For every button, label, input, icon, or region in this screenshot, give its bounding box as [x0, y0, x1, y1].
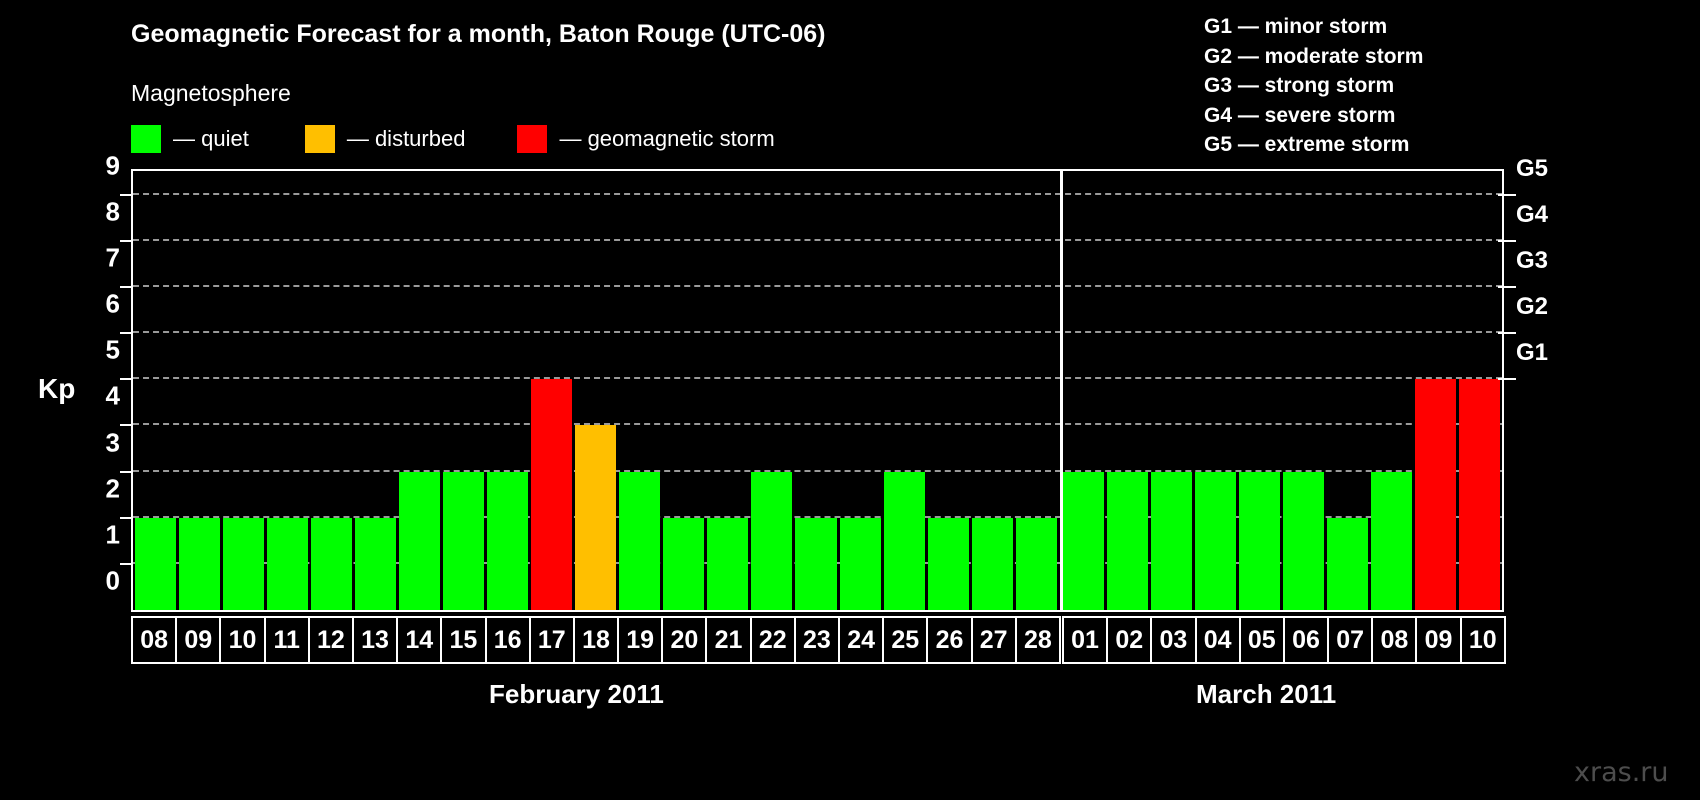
month-caption-march: March 2011	[1196, 679, 1336, 710]
date-label-february-28[interactable]: 28	[1015, 616, 1061, 664]
legend-swatch-disturbed-icon	[305, 125, 335, 153]
bar-march-07[interactable]	[1327, 518, 1368, 610]
legend-item-disturbed: — disturbed	[305, 125, 466, 153]
date-label-february-12[interactable]: 12	[308, 616, 354, 664]
date-label-february-14[interactable]: 14	[396, 616, 442, 664]
date-label-march-03[interactable]: 03	[1150, 616, 1196, 664]
date-label-march-10[interactable]: 10	[1460, 616, 1506, 664]
bar-march-06[interactable]	[1283, 472, 1324, 610]
bar-cell	[838, 171, 882, 610]
y-tick-label-0: 0	[70, 566, 120, 597]
legend-swatch-storm-icon	[517, 125, 547, 153]
y-tick-mark-8	[120, 240, 131, 242]
bar-march-04[interactable]	[1195, 472, 1236, 610]
y-tick-label-4: 4	[70, 381, 120, 412]
y-tick-label-7: 7	[70, 242, 120, 273]
month-separator	[1060, 169, 1063, 612]
date-label-march-05[interactable]: 05	[1239, 616, 1285, 664]
storm-scale-legend: G1 — minor storm G2 — moderate storm G3 …	[1204, 12, 1423, 160]
date-label-february-09[interactable]: 09	[175, 616, 221, 664]
date-label-february-23[interactable]: 23	[794, 616, 840, 664]
bar-february-13[interactable]	[355, 518, 396, 610]
y-tick-label-8: 8	[70, 196, 120, 227]
bar-march-08[interactable]	[1371, 472, 1412, 610]
bar-february-22[interactable]	[751, 472, 792, 610]
bar-cell	[794, 171, 838, 610]
date-label-march-02[interactable]: 02	[1106, 616, 1152, 664]
bar-cell	[574, 171, 618, 610]
bar-february-25[interactable]	[884, 472, 925, 610]
bar-february-24[interactable]	[840, 518, 881, 610]
bar-march-05[interactable]	[1239, 472, 1280, 610]
legend-label-geomagnetic-storm: — geomagnetic storm	[559, 126, 774, 152]
bar-cell	[178, 171, 222, 610]
legend-label-disturbed: — disturbed	[347, 126, 466, 152]
bar-cell	[530, 171, 574, 610]
date-label-february-25[interactable]: 25	[882, 616, 928, 664]
legend-label-quiet: — quiet	[173, 126, 249, 152]
bar-february-12[interactable]	[311, 518, 352, 610]
g-tick-label-g1: G1	[1516, 339, 1548, 367]
g-tick-label-g2: G2	[1516, 293, 1548, 321]
y-tick-mark-3	[120, 471, 131, 473]
g-tick-mark-g4	[1498, 240, 1516, 242]
y-tick-mark-4	[120, 424, 131, 426]
date-label-march-09[interactable]: 09	[1415, 616, 1461, 664]
y-tick-label-1: 1	[70, 519, 120, 550]
g-tick-mark-g5	[1498, 194, 1516, 196]
date-label-february-21[interactable]: 21	[705, 616, 751, 664]
y-tick-mark-2	[120, 517, 131, 519]
plot-area	[131, 169, 1504, 612]
legend-item-quiet: — quiet	[131, 125, 249, 153]
watermark: xras.ru	[1574, 757, 1669, 788]
y-tick-label-5: 5	[70, 335, 120, 366]
legend-item-geomagnetic-storm: — geomagnetic storm	[517, 125, 774, 153]
bar-february-08[interactable]	[135, 518, 176, 610]
bar-february-23[interactable]	[795, 518, 836, 610]
bar-cell	[706, 171, 750, 610]
bar-cell	[222, 171, 266, 610]
date-label-february-20[interactable]: 20	[661, 616, 707, 664]
g-axis-tick-labels: G5G4G3G2G1	[1516, 169, 1586, 612]
bar-february-26[interactable]	[928, 518, 969, 610]
date-label-march-08[interactable]: 08	[1371, 616, 1417, 664]
y-tick-mark-6	[120, 332, 131, 334]
bar-cell	[750, 171, 794, 610]
y-tick-label-6: 6	[70, 289, 120, 320]
g-tick-mark-g2	[1498, 332, 1516, 334]
y-axis-tick-labels: 9876543210	[70, 169, 120, 612]
date-label-february-19[interactable]: 19	[617, 616, 663, 664]
bar-february-20[interactable]	[663, 518, 704, 610]
date-label-february-24[interactable]: 24	[838, 616, 884, 664]
page-title: Geomagnetic Forecast for a month, Baton …	[131, 20, 826, 49]
magnetosphere-label: Magnetosphere	[131, 80, 291, 107]
bar-march-09[interactable]	[1415, 379, 1456, 610]
bar-cell	[1325, 171, 1369, 610]
bar-march-03[interactable]	[1151, 472, 1192, 610]
y-tick-mark-7	[120, 286, 131, 288]
bar-cell	[398, 171, 442, 610]
storm-scale-g3: G3 — strong storm	[1204, 71, 1423, 101]
bar-february-14[interactable]	[399, 472, 440, 610]
bar-cell	[1105, 171, 1149, 610]
bar-march-02[interactable]	[1107, 472, 1148, 610]
bar-cell	[486, 171, 530, 610]
bar-february-19[interactable]	[619, 472, 660, 610]
bar-cell	[970, 171, 1014, 610]
bar-cell	[1193, 171, 1237, 610]
bar-cell	[266, 171, 310, 610]
bar-cell	[1281, 171, 1325, 610]
date-label-february-13[interactable]: 13	[352, 616, 398, 664]
bar-series	[133, 171, 1502, 610]
bar-cell	[882, 171, 926, 610]
bar-cell	[310, 171, 354, 610]
bar-cell	[1149, 171, 1193, 610]
bar-cell	[618, 171, 662, 610]
g-axis-tick-marks	[1494, 169, 1516, 612]
bar-february-27[interactable]	[972, 518, 1013, 610]
bar-february-28[interactable]	[1016, 518, 1057, 610]
bar-cell	[354, 171, 398, 610]
date-label-february-22[interactable]: 22	[750, 616, 796, 664]
bar-cell	[442, 171, 486, 610]
bar-february-10[interactable]	[223, 518, 264, 610]
date-label-february-26[interactable]: 26	[926, 616, 972, 664]
bar-cell	[133, 171, 178, 610]
date-label-february-27[interactable]: 27	[971, 616, 1017, 664]
chart-canvas: Geomagnetic Forecast for a month, Baton …	[0, 0, 1700, 800]
date-label-march-04[interactable]: 04	[1195, 616, 1241, 664]
magnetosphere-legend: — quiet — disturbed — geomagnetic storm	[131, 124, 775, 154]
month-caption-february: February 2011	[489, 679, 664, 710]
date-label-february-10[interactable]: 10	[219, 616, 265, 664]
bar-february-11[interactable]	[267, 518, 308, 610]
bar-february-15[interactable]	[443, 472, 484, 610]
storm-scale-g2: G2 — moderate storm	[1204, 42, 1423, 72]
bar-february-21[interactable]	[707, 518, 748, 610]
bar-february-17[interactable]	[531, 379, 572, 610]
g-tick-mark-g3	[1498, 286, 1516, 288]
y-tick-mark-9	[120, 194, 131, 196]
date-label-february-17[interactable]: 17	[529, 616, 575, 664]
date-label-march-01[interactable]: 01	[1062, 616, 1108, 664]
bar-february-16[interactable]	[487, 472, 528, 610]
bar-cell	[1061, 171, 1105, 610]
storm-scale-g4: G4 — severe storm	[1204, 101, 1423, 131]
bar-february-18[interactable]	[575, 425, 616, 610]
legend-swatch-quiet-icon	[131, 125, 161, 153]
date-label-february-11[interactable]: 11	[264, 616, 310, 664]
g-tick-mark-g1	[1498, 378, 1516, 380]
bar-cell	[662, 171, 706, 610]
g-tick-label-g5: G5	[1516, 155, 1548, 183]
y-tick-mark-5	[120, 378, 131, 380]
y-tick-label-3: 3	[70, 427, 120, 458]
storm-scale-g1: G1 — minor storm	[1204, 12, 1423, 42]
bar-cell	[1014, 171, 1058, 610]
bar-cell	[1413, 171, 1457, 610]
date-label-february-08[interactable]: 08	[131, 616, 177, 664]
g-tick-label-g4: G4	[1516, 201, 1548, 229]
g-tick-label-g3: G3	[1516, 247, 1548, 275]
bar-february-09[interactable]	[179, 518, 220, 610]
date-axis: 0809101112131415161718192021222324252627…	[131, 616, 1504, 664]
date-label-february-16[interactable]: 16	[485, 616, 531, 664]
date-label-march-07[interactable]: 07	[1327, 616, 1373, 664]
bar-cell	[1369, 171, 1413, 610]
date-label-february-15[interactable]: 15	[440, 616, 486, 664]
bar-cell	[926, 171, 970, 610]
y-tick-label-2: 2	[70, 473, 120, 504]
y-tick-label-9: 9	[70, 150, 120, 181]
storm-scale-g5: G5 — extreme storm	[1204, 130, 1423, 160]
y-tick-mark-1	[120, 563, 131, 565]
bar-march-01[interactable]	[1063, 472, 1104, 610]
bar-cell	[1237, 171, 1281, 610]
date-label-march-06[interactable]: 06	[1283, 616, 1329, 664]
date-label-february-18[interactable]: 18	[573, 616, 619, 664]
